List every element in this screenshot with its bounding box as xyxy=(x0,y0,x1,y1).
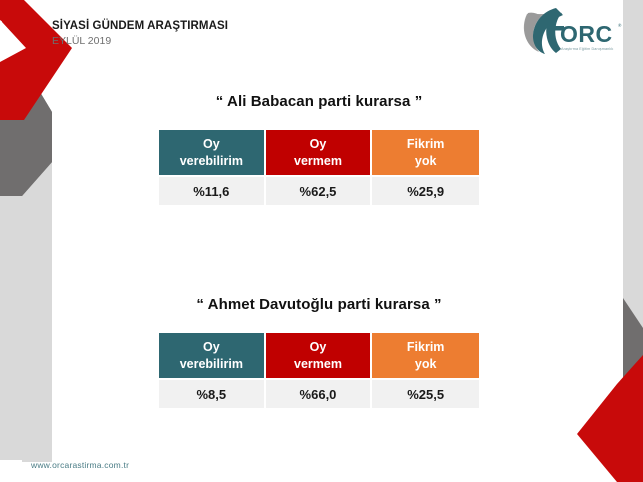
right-chevron-decoration xyxy=(571,0,643,482)
header-line-2: vermem xyxy=(294,154,342,168)
slide-canvas: SİYASİ GÜNDEM ARAŞTIRMASI EYLÜL 2019 ORC… xyxy=(0,0,643,482)
poll-table-1: Oy verebilirim Oy vermem Fikrim yok %11,… xyxy=(159,130,479,205)
header-line-1: Oy xyxy=(310,340,327,354)
header-line-2: yok xyxy=(415,154,437,168)
header-line-2: yok xyxy=(415,357,437,371)
header-line-1: Oy xyxy=(310,137,327,151)
right-light-gray-strip xyxy=(623,0,643,330)
left-light-gray-strip-lower xyxy=(22,160,52,462)
header-cell-oy-verebilirim: Oy verebilirim xyxy=(159,130,266,177)
value-cell-fikrim-yok: %25,9 xyxy=(372,177,479,205)
header-cell-oy-verebilirim: Oy verebilirim xyxy=(159,333,266,380)
header-cell-fikrim-yok: Fikrim yok xyxy=(372,333,479,380)
question-block-1: “ Ali Babacan parti kurarsa ” Oy verebil… xyxy=(159,93,479,205)
header-line-2: verebilirim xyxy=(180,357,243,371)
poll-table-2: Oy verebilirim Oy vermem Fikrim yok %8,5… xyxy=(159,333,479,408)
header-line-2: vermem xyxy=(294,357,342,371)
question-title-2: “ Ahmet Davutoğlu parti kurarsa ” xyxy=(159,296,479,313)
header-cell-oy-vermem: Oy vermem xyxy=(266,333,373,380)
table-header-row: Oy verebilirim Oy vermem Fikrim yok xyxy=(159,130,479,177)
value-cell-fikrim-yok: %25,5 xyxy=(372,380,479,408)
header-line-2: verebilirim xyxy=(180,154,243,168)
left-red-chevron xyxy=(0,0,70,118)
right-dark-gray-chevron-body xyxy=(623,298,643,482)
page-title: SİYASİ GÜNDEM ARAŞTIRMASI xyxy=(52,19,228,33)
right-red-chevron xyxy=(579,360,643,482)
right-dark-gray-chevron xyxy=(623,300,643,430)
header-block: SİYASİ GÜNDEM ARAŞTIRMASI EYLÜL 2019 xyxy=(52,19,228,49)
table-header-row: Oy verebilirim Oy vermem Fikrim yok xyxy=(159,333,479,380)
left-chevron-decoration xyxy=(0,0,72,482)
header-cell-oy-vermem: Oy vermem xyxy=(266,130,373,177)
left-dark-gray-chevron xyxy=(0,62,52,196)
table-value-row: %11,6 %62,5 %25,9 xyxy=(159,177,479,205)
question-block-2: “ Ahmet Davutoğlu parti kurarsa ” Oy ver… xyxy=(159,296,479,408)
table-value-row: %8,5 %66,0 %25,5 xyxy=(159,380,479,408)
logo-tagline: Araştırma Eğitim Danışmanlık xyxy=(561,47,613,51)
question-title-1: “ Ali Babacan parti kurarsa ” xyxy=(159,93,479,110)
header-line-1: Fikrim xyxy=(407,340,445,354)
header-cell-fikrim-yok: Fikrim yok xyxy=(372,130,479,177)
value-cell-oy-vermem: %62,5 xyxy=(266,177,373,205)
value-cell-oy-vermem: %66,0 xyxy=(266,380,373,408)
header-line-1: Fikrim xyxy=(407,137,445,151)
logo-wordmark: ORC xyxy=(560,21,613,47)
left-light-gray-strip xyxy=(0,160,52,460)
footer-website-url[interactable]: www.orcarastirma.com.tr xyxy=(31,460,129,470)
value-cell-oy-verebilirim: %8,5 xyxy=(159,380,266,408)
left-dark-gray-chevron-body xyxy=(22,62,52,196)
orc-logo: ORC ® Araştırma Eğitim Danışmanlık xyxy=(519,6,625,60)
left-red-chevron-solid xyxy=(0,0,72,120)
right-red-chevron-solid xyxy=(577,355,643,482)
value-cell-oy-verebilirim: %11,6 xyxy=(159,177,266,205)
header-line-1: Oy xyxy=(203,137,220,151)
page-subtitle: EYLÜL 2019 xyxy=(52,35,228,48)
header-line-1: Oy xyxy=(203,340,220,354)
logo-registered-mark: ® xyxy=(618,22,622,28)
